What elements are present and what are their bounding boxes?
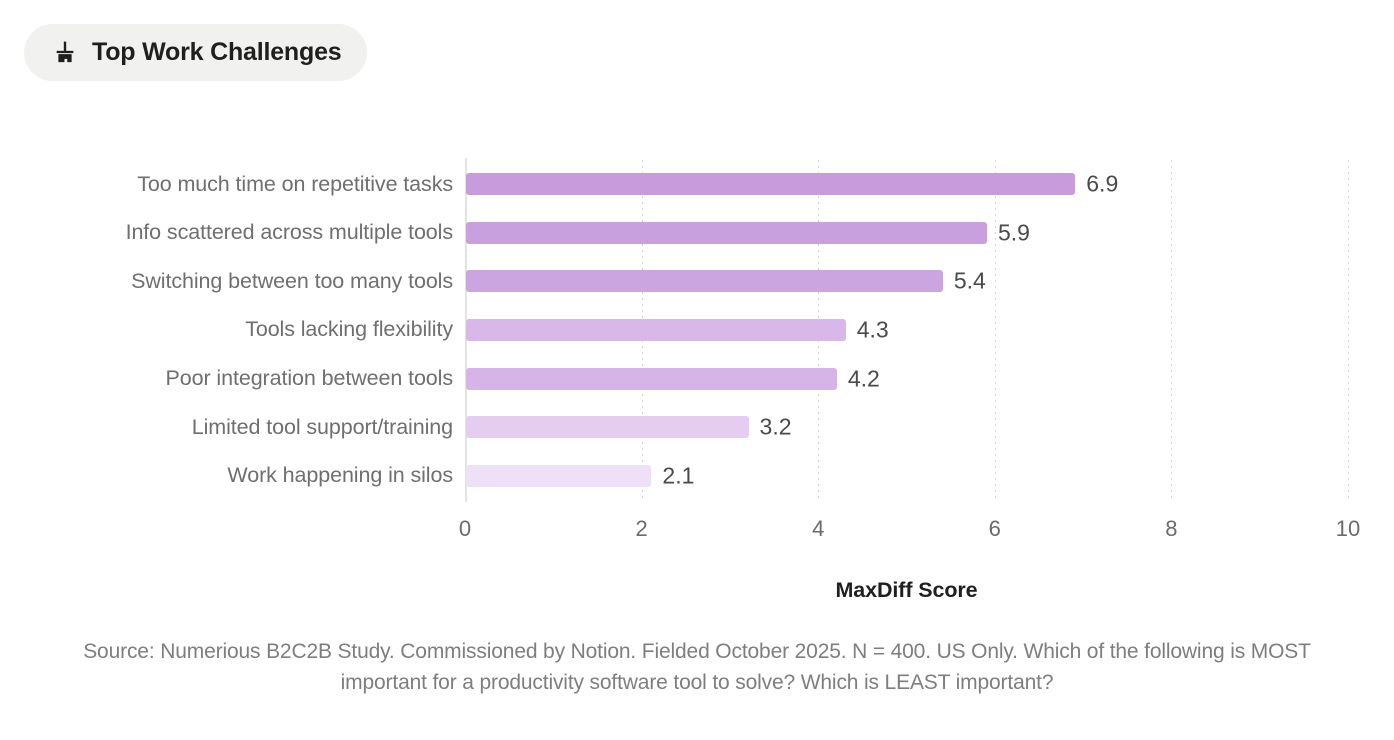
category-label-text: Too much time on repetitive tasks [137,172,453,196]
bar-row: Too much time on repetitive tasks6.9 [0,160,1394,209]
bar-container: 3.2 [466,416,749,438]
bar-value-label: 5.9 [998,219,1030,246]
category-label: Info scattered across multiple tools [35,220,453,245]
x-tick-label: 2 [607,516,677,542]
bar[interactable] [466,222,987,244]
bar[interactable] [466,416,749,438]
bar-row: Info scattered across multiple tools5.9 [0,209,1394,258]
bar-value-label: 6.9 [1086,171,1118,198]
bar-row: Switching between too many tools5.4 [0,257,1394,306]
x-axis-title: MaxDiff Score [465,578,1348,603]
bar[interactable] [466,465,651,487]
bar-row: Tools lacking flexibility4.3 [0,306,1394,355]
category-label-text: Poor integration between tools [166,366,453,390]
category-label-text: Switching between too many tools [131,269,453,293]
bar-container: 5.9 [466,222,987,244]
category-label: Too much time on repetitive tasks [35,172,453,197]
x-tick-label: 6 [960,516,1030,542]
category-label-text: Tools lacking flexibility [245,317,453,341]
chart-page: Top Work Challenges Too much time on rep… [0,0,1394,740]
bar[interactable] [466,173,1075,195]
source-caption: Source: Numerious B2C2B Study. Commissio… [0,636,1394,698]
bar-chart: Too much time on repetitive tasks6.9Info… [0,0,1394,740]
category-label: Limited tool support/training [35,415,453,440]
bar-value-label: 2.1 [662,462,694,489]
category-label: Work happening in silos [35,463,453,488]
x-tick-label: 8 [1136,516,1206,542]
bar-container: 5.4 [466,270,943,292]
bar-container: 4.3 [466,319,846,341]
source-caption-line-1: Source: Numerious B2C2B Study. Commissio… [83,640,1138,663]
bar-row: Work happening in silos2.1 [0,451,1394,500]
category-label: Tools lacking flexibility [35,317,453,342]
category-label: Switching between too many tools [35,269,453,294]
category-label: Poor integration between tools [35,366,453,391]
bar-row: Poor integration between tools4.2 [0,354,1394,403]
x-tick-label: 0 [430,516,500,542]
x-tick-label: 4 [783,516,853,542]
bar-container: 6.9 [466,173,1075,195]
category-label-text: Info scattered across multiple tools [126,220,453,244]
bar-value-label: 5.4 [954,268,986,295]
bar-value-label: 3.2 [760,414,792,441]
bar[interactable] [466,270,943,292]
bar[interactable] [466,319,846,341]
bar-value-label: 4.3 [857,316,889,343]
bar-value-label: 4.2 [848,365,880,392]
category-label-text: Limited tool support/training [192,415,453,439]
category-label-text: Work happening in silos [227,463,453,487]
bar-container: 2.1 [466,465,651,487]
bar-container: 4.2 [466,368,837,390]
bar[interactable] [466,368,837,390]
bar-row: Limited tool support/training3.2 [0,403,1394,452]
x-tick-label: 10 [1313,516,1383,542]
